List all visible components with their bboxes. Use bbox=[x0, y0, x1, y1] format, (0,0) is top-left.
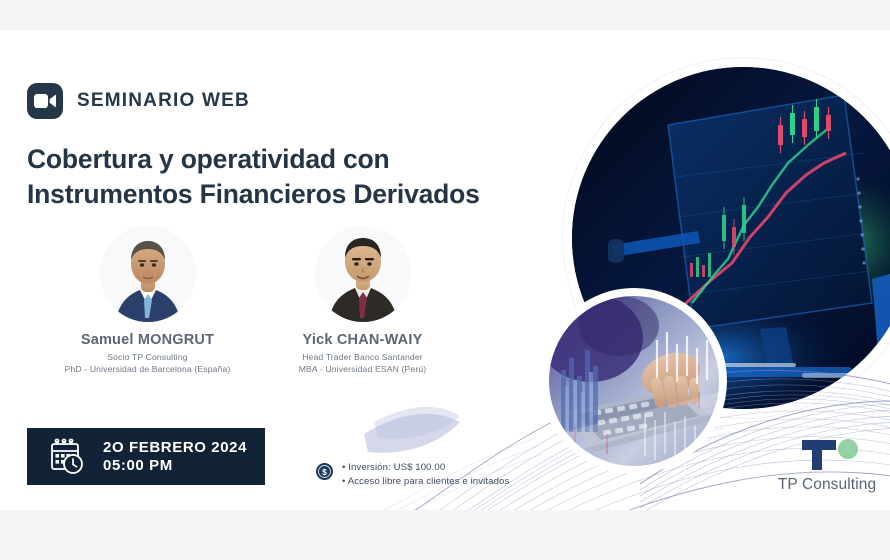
speaker-card-1: Yick CHAN-WAIY Head Trader Banco Santand… bbox=[255, 226, 470, 374]
video-camera-icon bbox=[27, 83, 63, 119]
kicker-row: SEMINARIO WEB bbox=[27, 83, 250, 119]
speaker-name-0: Samuel MONGRUT bbox=[81, 332, 214, 348]
speaker-education-1: MBA - Universidad ESAN (Perú) bbox=[299, 364, 427, 374]
speaker-role-1: Head Trader Banco Santander bbox=[302, 352, 423, 362]
pricing-line-1: • Acceso libre para clientes e invitados bbox=[342, 475, 509, 489]
circle-image-keyboard-analytics-inner bbox=[549, 296, 719, 466]
event-date-badge: 2O FEBRERO 2024 05:00 PM bbox=[27, 428, 265, 485]
keyboard-analytics-illustration bbox=[549, 296, 719, 466]
speaker-card-0: Samuel MONGRUT Socio TP Consulting PhD -… bbox=[40, 226, 255, 374]
speakers-row: Samuel MONGRUT Socio TP Consulting PhD -… bbox=[40, 226, 470, 374]
circle-image-keyboard-analytics bbox=[541, 288, 727, 474]
avatar-samuel-mongrut bbox=[100, 226, 196, 322]
calendar-clock-icon bbox=[49, 438, 89, 476]
brand-logo: TP Consulting bbox=[767, 438, 887, 494]
kicker-label: SEMINARIO WEB bbox=[77, 90, 250, 112]
headshot-illustration-1 bbox=[315, 226, 411, 322]
speaker-role-0: Socio TP Consulting bbox=[107, 352, 187, 362]
event-date-text: 2O FEBRERO 2024 05:00 PM bbox=[103, 439, 247, 475]
speaker-education-0: PhD - Universidad de Barcelona (España) bbox=[65, 364, 231, 374]
page-title: Cobertura y operatividad con Instrumento… bbox=[27, 142, 497, 212]
speaker-name-1: Yick CHAN-WAIY bbox=[303, 332, 423, 348]
avatar-yick-chan-waiy bbox=[315, 226, 411, 322]
video-camera-glyph bbox=[34, 94, 56, 108]
pricing-lines: • Inversión: US$ 100.00 • Acceso libre p… bbox=[342, 461, 509, 489]
svg-text:$: $ bbox=[322, 467, 327, 477]
title-line-2: Instrumentos Financieros Derivados bbox=[27, 177, 497, 212]
event-date: 2O FEBRERO 2024 bbox=[103, 439, 247, 457]
tp-logo-mark-icon bbox=[798, 438, 860, 472]
headshot-illustration-0 bbox=[100, 226, 196, 322]
pricing-block: $ • Inversión: US$ 100.00 • Acceso libre… bbox=[316, 461, 509, 489]
dollar-coin-icon: $ bbox=[316, 463, 333, 480]
brand-name: TP Consulting bbox=[778, 476, 876, 494]
pricing-line-0: • Inversión: US$ 100.00 bbox=[342, 461, 509, 475]
poster-canvas: SEMINARIO WEB Cobertura y operatividad c… bbox=[0, 30, 890, 510]
event-time: 05:00 PM bbox=[103, 457, 247, 475]
title-line-1: Cobertura y operatividad con bbox=[27, 142, 497, 177]
